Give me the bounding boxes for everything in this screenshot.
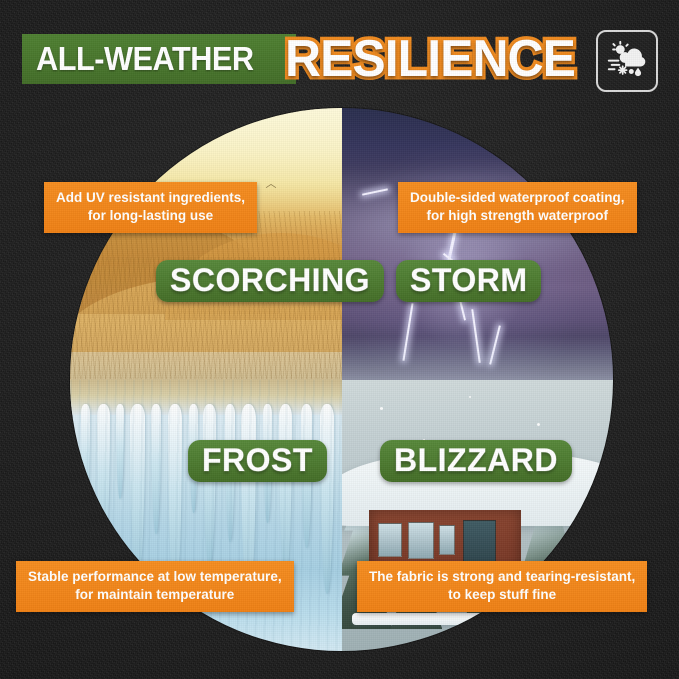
storm-scene	[342, 108, 614, 380]
caption-line-1: Double-sided waterproof coating,	[410, 190, 625, 205]
storm-horizon	[342, 336, 614, 379]
caption-line-1: Add UV resistant ingredients,	[56, 190, 245, 205]
caption-line-1: The fabric is strong and tearing-resista…	[369, 569, 635, 584]
poster-canvas: ALL-WEATHER RESILIENCE	[0, 0, 679, 679]
category-label-blizzard: BLIZZARD	[380, 440, 572, 482]
cabin-window	[378, 523, 402, 556]
desert-scene: ︿ ︿	[70, 108, 342, 380]
cabin-window	[408, 522, 434, 559]
page-title-primary: ALL-WEATHER	[36, 34, 254, 84]
weather-icon-box	[596, 30, 658, 92]
caption-line-2: to keep stuff fine	[369, 586, 635, 604]
category-label-storm: STORM	[396, 260, 541, 302]
snowflake	[380, 407, 383, 410]
category-label-frost: FROST	[188, 440, 327, 482]
caption-blizzard: The fabric is strong and tearing-resista…	[357, 561, 647, 612]
snowflake	[469, 396, 471, 398]
page-title-accent: RESILIENCE	[285, 26, 575, 92]
snow-drift	[352, 613, 520, 625]
caption-line-2: for maintain temperature	[28, 586, 282, 604]
header: ALL-WEATHER RESILIENCE	[22, 30, 658, 92]
bird-icon: ︿	[265, 179, 276, 190]
caption-frost: Stable performance at low temperature, f…	[16, 561, 294, 612]
sun-cloud-wind-snow-rain-icon	[604, 38, 650, 84]
caption-line-2: for long-lasting use	[56, 207, 245, 225]
quadrant-storm	[342, 108, 614, 380]
caption-line-2: for high strength waterproof	[410, 207, 625, 225]
caption-storm: Double-sided waterproof coating, for hig…	[398, 182, 637, 233]
cabin-window	[439, 525, 456, 554]
snowflake	[537, 423, 540, 426]
quadrant-scorching: ︿ ︿	[70, 108, 342, 380]
caption-line-1: Stable performance at low temperature,	[28, 569, 282, 584]
caption-scorching: Add UV resistant ingredients, for long-l…	[44, 182, 257, 233]
category-label-scorching: SCORCHING	[156, 260, 384, 302]
